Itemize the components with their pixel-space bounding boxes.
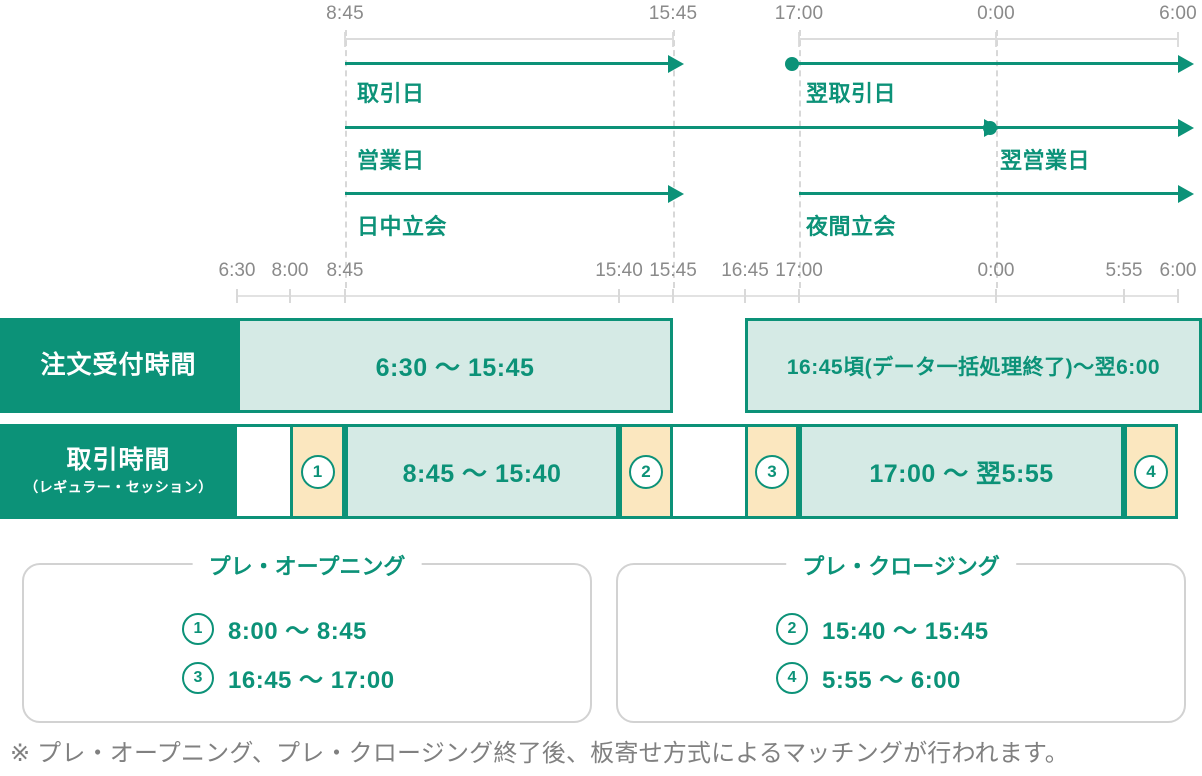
segment-number-badge: 4 bbox=[1134, 455, 1168, 489]
legend-item: 45:55 ～ 6:00 bbox=[776, 660, 1026, 695]
legend-number-badge: 4 bbox=[776, 662, 808, 694]
arrow-label: 取引日 bbox=[357, 76, 425, 108]
segment-time-text: 6:30 ～ 15:45 bbox=[376, 348, 535, 384]
top-axis-rule bbox=[345, 38, 673, 40]
row-title: 取引時間 bbox=[66, 446, 170, 475]
bar-segment-pre: 2 bbox=[619, 424, 673, 519]
top-axis-tick bbox=[1177, 32, 1179, 47]
detail-axis-label: 8:00 bbox=[272, 260, 309, 282]
detail-axis-rule bbox=[237, 295, 1178, 297]
row-subtitle: （レギュラー・セッション） bbox=[24, 477, 213, 497]
top-axis-label: 6:00 bbox=[1159, 3, 1197, 25]
arrow-head-icon bbox=[668, 55, 684, 73]
order-acceptance-row: 注文受付時間6:30 ～ 15:4516:45頃(データ一括処理終了)～翌6:0… bbox=[0, 318, 1202, 413]
arrow-start-dot-icon bbox=[785, 57, 799, 71]
legend-number-badge: 2 bbox=[776, 613, 808, 645]
segment-number-badge: 2 bbox=[629, 455, 663, 489]
arrow-line bbox=[345, 126, 986, 129]
arrow-line bbox=[345, 192, 670, 195]
detail-axis-label: 0:00 bbox=[978, 260, 1015, 282]
row-label: 取引時間（レギュラー・セッション） bbox=[0, 424, 237, 519]
legend-number-badge: 3 bbox=[182, 662, 214, 694]
row-title: 注文受付時間 bbox=[40, 351, 196, 380]
detail-axis-tick bbox=[289, 289, 291, 303]
dashed-guide bbox=[345, 30, 347, 288]
dashed-guide bbox=[996, 30, 998, 288]
segment-time-text: 17:00 ～ 翌5:55 bbox=[869, 454, 1053, 490]
bar-segment-fill: 6:30 ～ 15:45 bbox=[237, 318, 673, 413]
segment-number-badge: 3 bbox=[755, 455, 789, 489]
legend-title: プレ・クロージング bbox=[786, 549, 1016, 581]
arrow-label: 翌営業日 bbox=[1000, 143, 1090, 175]
top-axis-label: 8:45 bbox=[326, 3, 364, 25]
legend-item-list: 215:40 ～ 15:4545:55 ～ 6:00 bbox=[618, 611, 1184, 695]
legend-item: 215:40 ～ 15:45 bbox=[776, 611, 1026, 646]
arrow-line bbox=[792, 62, 1180, 65]
top-axis-label: 17:00 bbox=[775, 3, 824, 25]
trading-hours-row: 取引時間（レギュラー・セッション）18:45 ～ 15:402317:00 ～ … bbox=[0, 424, 1202, 519]
legend-item: 316:45 ～ 17:00 bbox=[182, 660, 432, 695]
pre-opening-legend: プレ・オープニング18:00 ～ 8:45316:45 ～ 17:00 bbox=[22, 563, 592, 723]
bar-segment-fill: 16:45頃(データ一括処理終了)～翌6:00 bbox=[745, 318, 1202, 413]
arrow-head-icon bbox=[1178, 55, 1194, 73]
legend-title: プレ・オープニング bbox=[193, 549, 422, 581]
detail-axis-label: 15:45 bbox=[649, 260, 697, 282]
bar-segment-blank bbox=[237, 424, 290, 519]
bar-segment-fill: 8:45 ～ 15:40 bbox=[345, 424, 619, 519]
pre-closing-legend: プレ・クロージング215:40 ～ 15:4545:55 ～ 6:00 bbox=[616, 563, 1186, 723]
trading-hours-diagram: 8:4515:4517:000:006:00 取引日翌取引日営業日翌営業日日中立… bbox=[0, 0, 1202, 776]
detail-axis-tick bbox=[995, 289, 997, 303]
bar-segment-pre: 4 bbox=[1124, 424, 1178, 519]
bar-segment-gap bbox=[673, 318, 745, 413]
bar-segment-pre: 1 bbox=[290, 424, 345, 519]
arrow-label: 翌取引日 bbox=[806, 76, 896, 108]
row-label: 注文受付時間 bbox=[0, 318, 237, 413]
legend-item-text: 8:00 ～ 8:45 bbox=[228, 611, 367, 646]
segment-time-text: 16:45頃(データ一括処理終了)～翌6:00 bbox=[787, 351, 1160, 381]
legend-item-text: 5:55 ～ 6:00 bbox=[822, 660, 961, 695]
legend-item-text: 16:45 ～ 17:00 bbox=[228, 660, 395, 695]
bar-segment-blank bbox=[673, 424, 745, 519]
arrow-line bbox=[990, 126, 1180, 129]
top-axis-rule bbox=[799, 38, 1178, 40]
detail-axis-tick bbox=[344, 289, 346, 303]
arrow-line bbox=[345, 62, 670, 65]
detail-axis-label: 8:45 bbox=[327, 260, 364, 282]
segment-number-badge: 1 bbox=[301, 455, 335, 489]
detail-axis-label: 6:00 bbox=[1160, 260, 1197, 282]
detail-axis-label: 16:45 bbox=[721, 260, 769, 282]
bar-segment-pre: 3 bbox=[745, 424, 799, 519]
legend-item-list: 18:00 ～ 8:45316:45 ～ 17:00 bbox=[24, 611, 590, 695]
arrow-head-icon bbox=[668, 185, 684, 203]
detail-axis-tick bbox=[236, 289, 238, 303]
detail-axis-tick bbox=[744, 289, 746, 303]
detail-axis-tick bbox=[798, 289, 800, 303]
detail-axis-tick bbox=[1123, 289, 1125, 303]
detail-axis-tick bbox=[1177, 289, 1179, 303]
detail-axis-label: 6:30 bbox=[219, 260, 256, 282]
arrow-start-dot-icon bbox=[983, 121, 997, 135]
bar-segment-fill: 17:00 ～ 翌5:55 bbox=[799, 424, 1124, 519]
arrow-head-icon bbox=[1178, 185, 1194, 203]
detail-axis-label: 17:00 bbox=[775, 260, 823, 282]
detail-axis-label: 5:55 bbox=[1106, 260, 1143, 282]
segment-time-text: 8:45 ～ 15:40 bbox=[403, 454, 562, 490]
legend-number-badge: 1 bbox=[182, 613, 214, 645]
footnote-text: ※ プレ・オープニング、プレ・クロージング終了後、板寄せ方式によるマッチングが行… bbox=[10, 733, 1069, 768]
legend-item-text: 15:40 ～ 15:45 bbox=[822, 611, 989, 646]
arrow-label: 営業日 bbox=[357, 143, 425, 175]
legend-item: 18:00 ～ 8:45 bbox=[182, 611, 432, 646]
detail-axis-tick bbox=[672, 289, 674, 303]
top-axis-label: 15:45 bbox=[649, 3, 698, 25]
arrow-head-icon bbox=[1178, 119, 1194, 137]
detail-axis-label: 15:40 bbox=[595, 260, 643, 282]
arrow-label: 夜間立会 bbox=[806, 209, 896, 241]
detail-axis-tick bbox=[618, 289, 620, 303]
top-axis-label: 0:00 bbox=[977, 3, 1015, 25]
dashed-guide bbox=[799, 30, 801, 288]
arrow-line bbox=[799, 192, 1180, 195]
arrow-label: 日中立会 bbox=[357, 209, 447, 241]
